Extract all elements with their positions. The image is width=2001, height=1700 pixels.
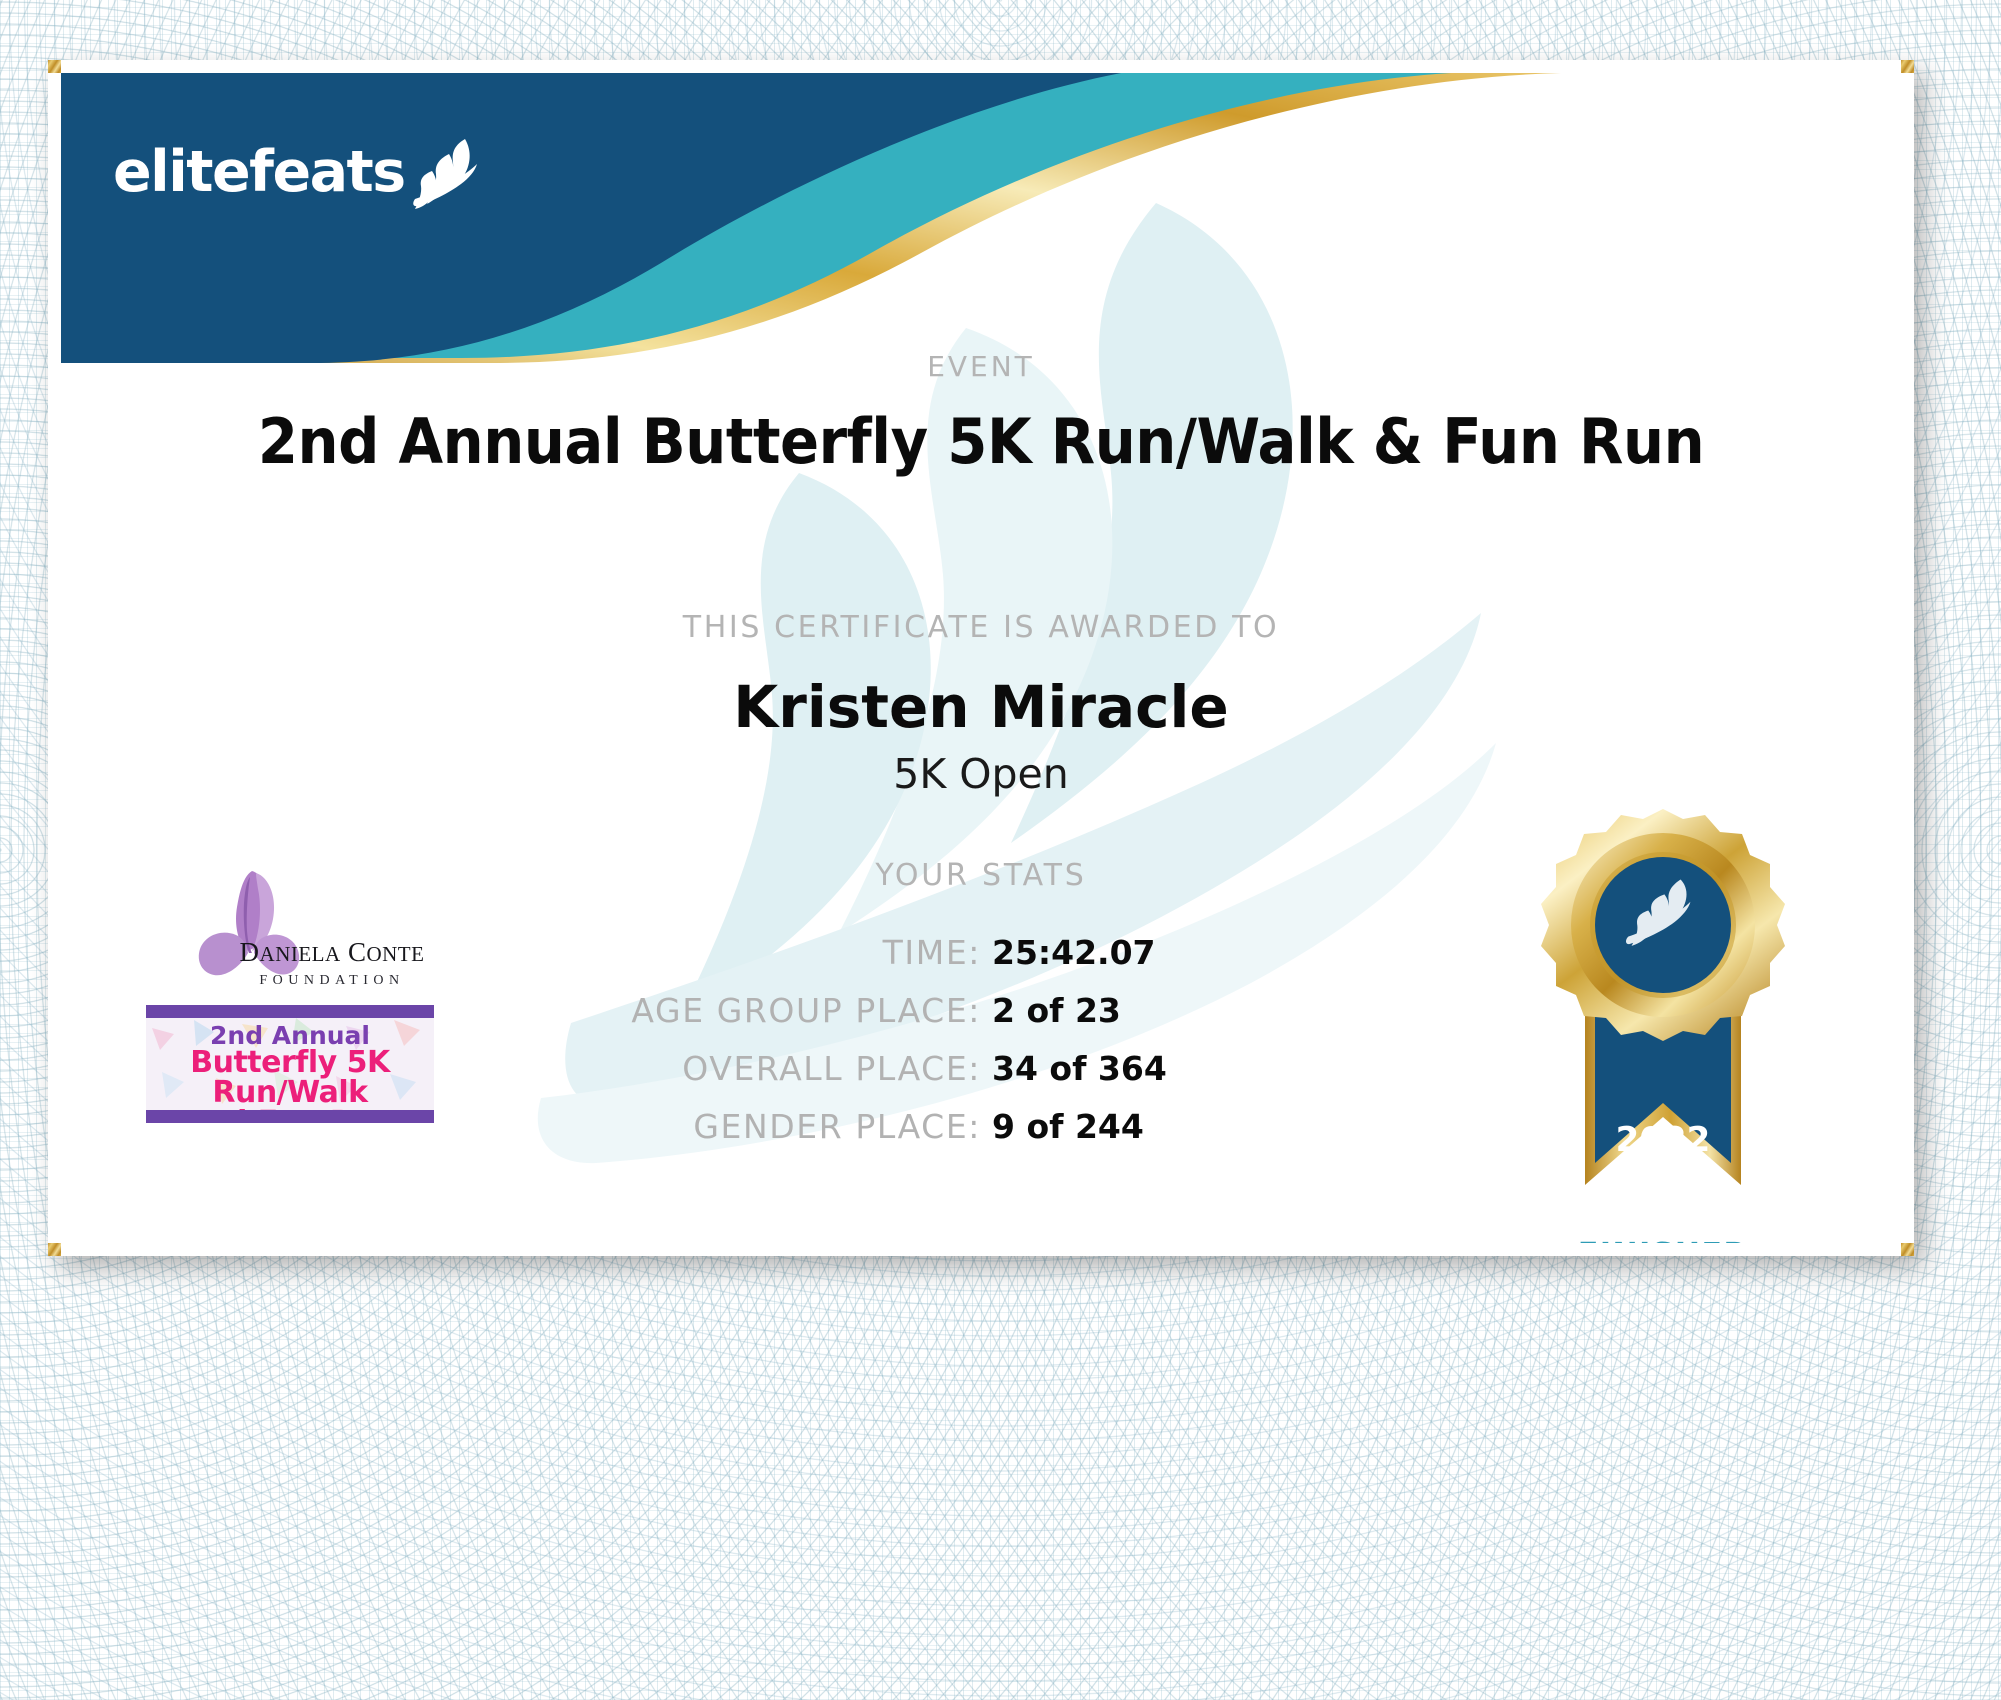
event-poster: 2nd Annual Butterfly 5K Run/Walk and Fun… — [146, 1005, 434, 1123]
medal-year: 2022 — [1616, 1120, 1711, 1160]
foundation-name: DANIELA CONTE — [239, 937, 424, 967]
brand-wordmark: elitefeats — [113, 139, 405, 205]
event-kicker: EVENT — [61, 350, 1901, 383]
sponsor-block: DANIELA CONTE FOUNDATION — [146, 863, 491, 1123]
medal-graphic: 2022 — [1523, 803, 1803, 1223]
medal-disc — [1541, 809, 1785, 1041]
recipient-name: Kristen Miracle — [61, 673, 1901, 741]
division-label: 5K Open — [61, 750, 1901, 798]
certificate-card: elitefeats EVENT 2nd Annual Butterfly 5K… — [48, 60, 1914, 1256]
poster-line-3: and Fun Run — [146, 1108, 434, 1123]
brand-logo: elitefeats — [113, 135, 487, 209]
finisher-caption-line-1: FINISHER — [1513, 1238, 1813, 1256]
winged-foot-icon — [409, 135, 487, 209]
header-decoration — [61, 73, 1901, 363]
foundation-subtitle: FOUNDATION — [259, 973, 404, 988]
poster-line-2: Butterfly 5K Run/Walk — [146, 1048, 434, 1108]
finisher-medal: 2022 FINISHER CERTIFICATE — [1513, 803, 1813, 1256]
event-title: 2nd Annual Butterfly 5K Run/Walk & Fun R… — [125, 405, 1836, 478]
awarded-to-kicker: THIS CERTIFICATE IS AWARDED TO — [61, 610, 1901, 645]
finisher-caption: FINISHER CERTIFICATE — [1513, 1238, 1813, 1256]
daniela-conte-foundation-logo: DANIELA CONTE FOUNDATION — [174, 863, 464, 991]
